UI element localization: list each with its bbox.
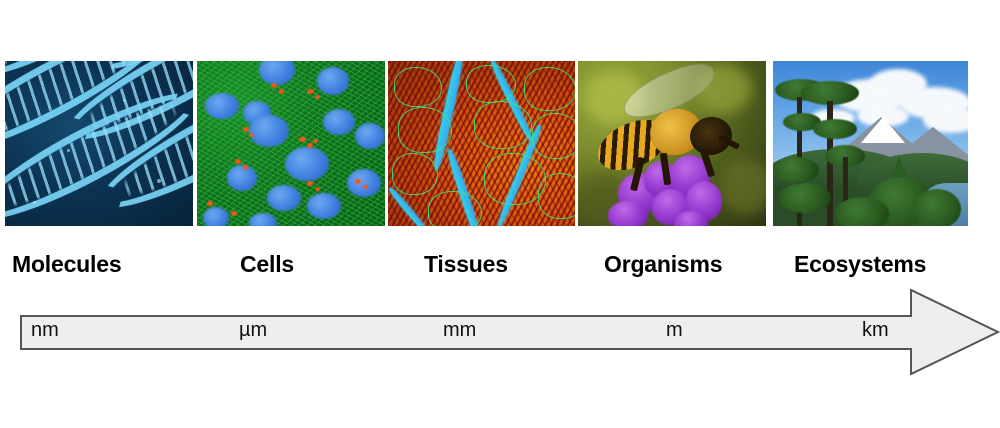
fluorescent-cells-icon xyxy=(197,61,385,226)
panel-image-cells xyxy=(197,61,385,226)
scale-unit-um: µm xyxy=(239,319,267,342)
scale-unit-mm: mm xyxy=(443,319,476,342)
scale-unit-m: m xyxy=(666,319,683,342)
level-label-molecules: Molecules xyxy=(12,251,121,278)
level-label-cells: Cells xyxy=(240,251,294,278)
organization-levels-figure: Molecules Cells Tissues Organisms Ecosys… xyxy=(0,0,1000,428)
scale-unit-nm: nm xyxy=(31,319,59,342)
dna-double-helix-icon xyxy=(5,61,193,226)
panel-image-ecosystems xyxy=(773,61,968,226)
mountain-forest-landscape-icon xyxy=(773,61,968,226)
level-label-tissues: Tissues xyxy=(424,251,508,278)
panel-image-organisms xyxy=(578,61,766,226)
panel-image-molecules xyxy=(5,61,193,226)
level-label-organisms: Organisms xyxy=(604,251,722,278)
honeybee-on-lavender-icon xyxy=(578,61,766,226)
vascular-tissue-icon xyxy=(388,61,575,226)
size-scale-arrow xyxy=(20,286,1000,378)
arrow-shape xyxy=(21,290,998,374)
scale-unit-km: km xyxy=(862,319,889,342)
level-label-ecosystems: Ecosystems xyxy=(794,251,926,278)
panel-image-tissues xyxy=(388,61,575,226)
